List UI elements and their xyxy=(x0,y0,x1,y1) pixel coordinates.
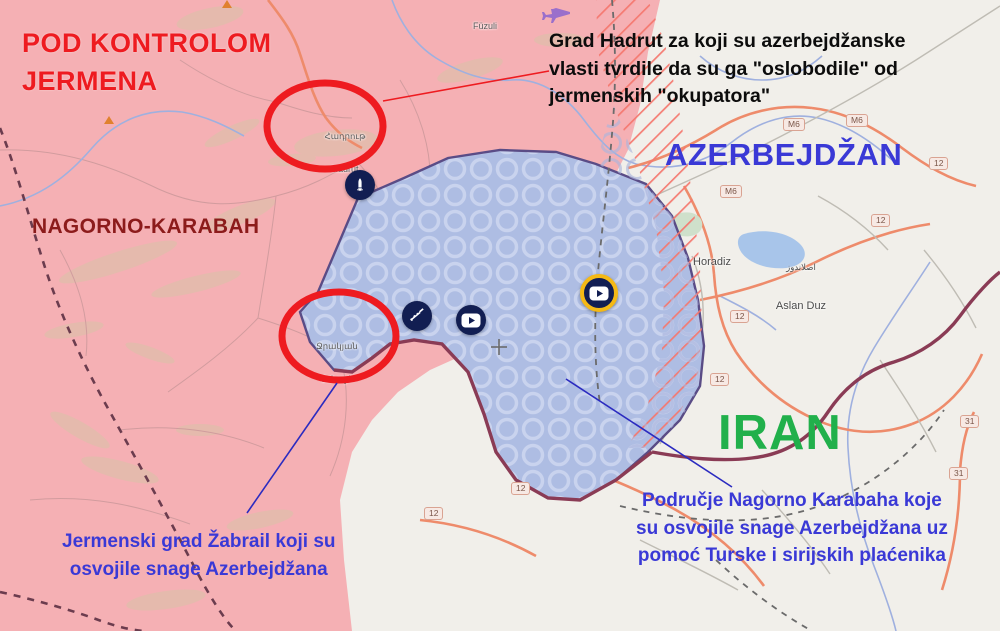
video-marker-selected[interactable] xyxy=(580,274,618,312)
hadrut-annotation: Grad Hadrut za koji su azerbejdžanske vl… xyxy=(549,28,906,111)
jabrayil-annotation: Jermenski grad Žabrail koji su osvojile … xyxy=(62,528,336,583)
road-shield: 12 xyxy=(929,157,948,170)
youtube-play-icon xyxy=(461,313,481,328)
iran-country-label: IRAN xyxy=(718,405,842,461)
place-label-fuzuli: Füzuli xyxy=(455,0,515,54)
airport-icon xyxy=(542,8,570,23)
road-shield: 12 xyxy=(424,507,443,520)
place-label-jabrayil: Ջրակյան Jabrayil xyxy=(300,318,374,407)
road-shield: 31 xyxy=(949,467,968,480)
road-shield: M6 xyxy=(720,185,742,198)
place-label-aslan-duz: اصلاندوز Aslan Duz xyxy=(762,234,840,341)
road-shield: 31 xyxy=(960,415,979,428)
bomb-icon xyxy=(352,177,368,193)
road-shield: 12 xyxy=(730,310,749,323)
rifle-icon xyxy=(408,307,426,325)
video-marker[interactable] xyxy=(456,305,486,335)
road-shield: M6 xyxy=(783,118,805,131)
map-center-crosshair xyxy=(491,339,507,355)
place-label-horadiz: Horadiz xyxy=(676,228,748,297)
nagorno-karabakh-label: NAGORNO-KARABAH xyxy=(32,215,259,239)
rifle-marker[interactable] xyxy=(402,301,432,331)
armenian-control-title: POD KONTROLOM JERMENA xyxy=(22,24,272,101)
road-shield: 12 xyxy=(871,214,890,227)
karabakh-leader-line xyxy=(566,379,732,487)
road-shield: M6 xyxy=(846,114,868,127)
map-canvas[interactable]: Füzuli Հադրութ Hadrut Ջրակյան Jabrayil H… xyxy=(0,0,1000,631)
iran-border-west xyxy=(334,340,652,500)
road-shield: 12 xyxy=(511,482,530,495)
hadrut-leader-line xyxy=(383,71,549,101)
azerbaijan-country-label: AZERBEJDŽAN xyxy=(665,137,902,173)
youtube-play-icon xyxy=(589,286,609,301)
karabakh-annotation: Područje Nagorno Karabaha koje su osvoji… xyxy=(636,487,948,570)
bomb-marker[interactable] xyxy=(345,170,375,200)
road-shield: 12 xyxy=(710,373,729,386)
